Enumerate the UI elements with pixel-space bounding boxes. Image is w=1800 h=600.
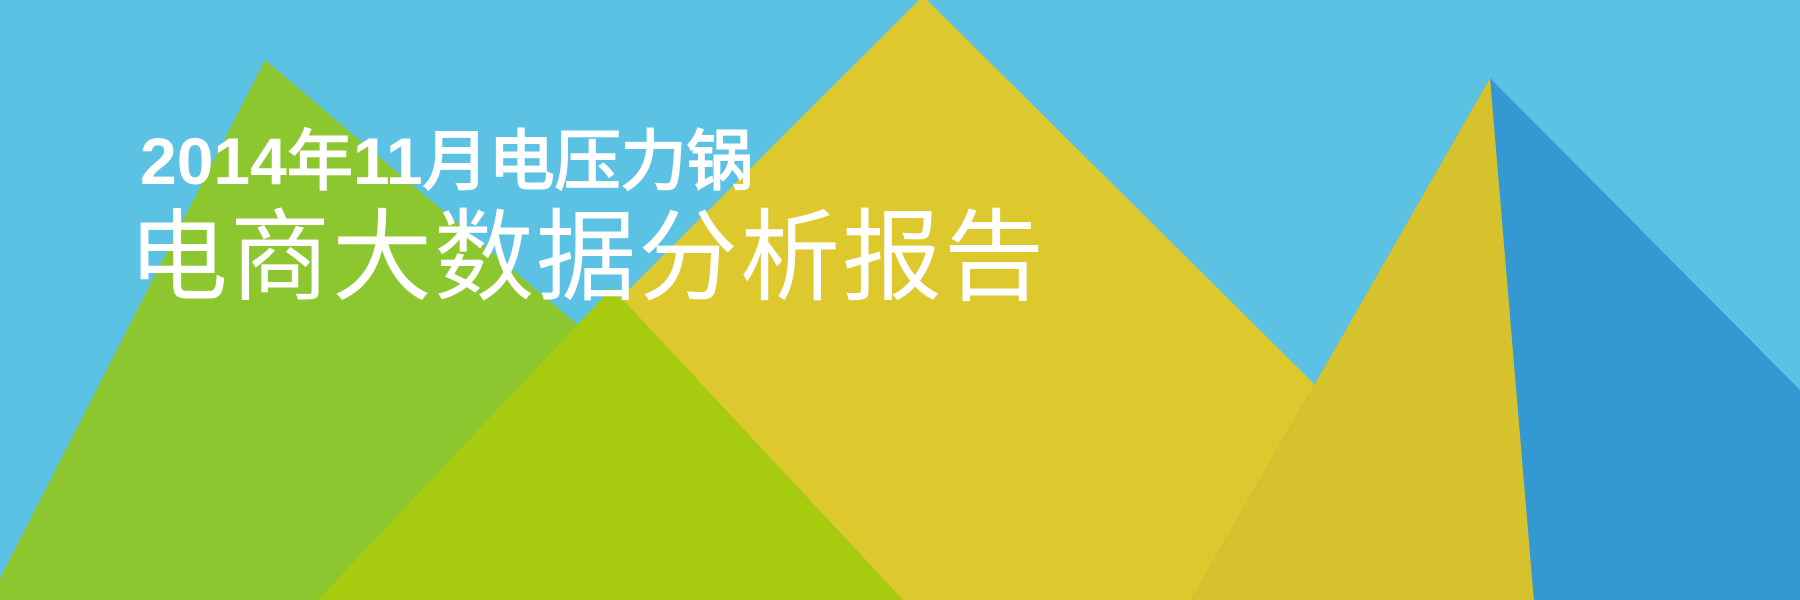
poster-banner: 2014年11月电压力锅 电商大数据分析报告 (0, 0, 1800, 600)
green-yellow-overlap (316, 288, 905, 600)
page-title-line-1: 2014年11月电压力锅 (140, 128, 1046, 194)
blue-over-yellow-shadow (1190, 78, 1534, 600)
dark-blue-triangle (1190, 78, 1800, 600)
page-title-line-2: 电商大数据分析报告 (128, 208, 1046, 308)
poster-title-block: 2014年11月电压力锅 电商大数据分析报告 (128, 128, 1046, 308)
